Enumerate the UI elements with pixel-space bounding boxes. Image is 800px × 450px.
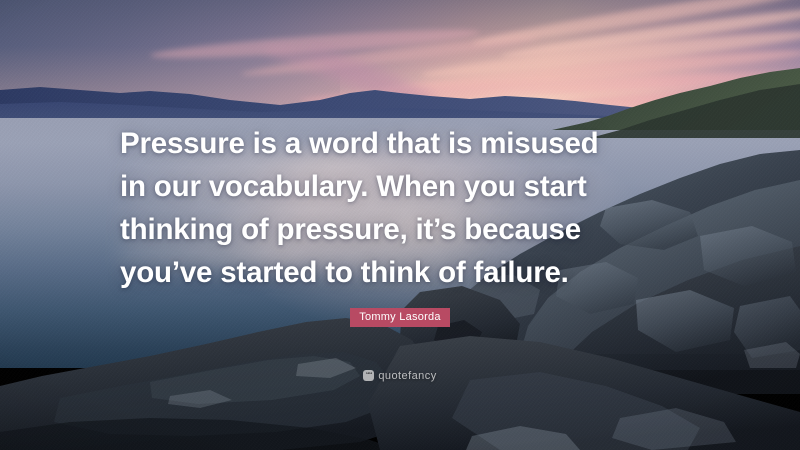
quote-image-card: Pressure is a word that is misused in ou… bbox=[0, 0, 800, 450]
author-attribution: Tommy Lasorda bbox=[0, 307, 800, 327]
quote-mark-icon: ““ bbox=[363, 370, 374, 381]
quote-text: Pressure is a word that is misused in ou… bbox=[120, 122, 690, 294]
text-overlay: Pressure is a word that is misused in ou… bbox=[0, 0, 800, 450]
author-name-badge[interactable]: Tommy Lasorda bbox=[350, 308, 450, 327]
brand-name: quotefancy bbox=[378, 370, 436, 382]
quote-line-3: thinking of pressure, it’s because bbox=[120, 208, 690, 251]
watermark: ““ quotefancy bbox=[0, 364, 800, 382]
brand-logo[interactable]: ““ quotefancy bbox=[363, 370, 436, 382]
quote-line-4: you’ve started to think of failure. bbox=[120, 251, 690, 294]
quote-line-2: in our vocabulary. When you start bbox=[120, 165, 690, 208]
quote-line-1: Pressure is a word that is misused bbox=[120, 122, 690, 165]
